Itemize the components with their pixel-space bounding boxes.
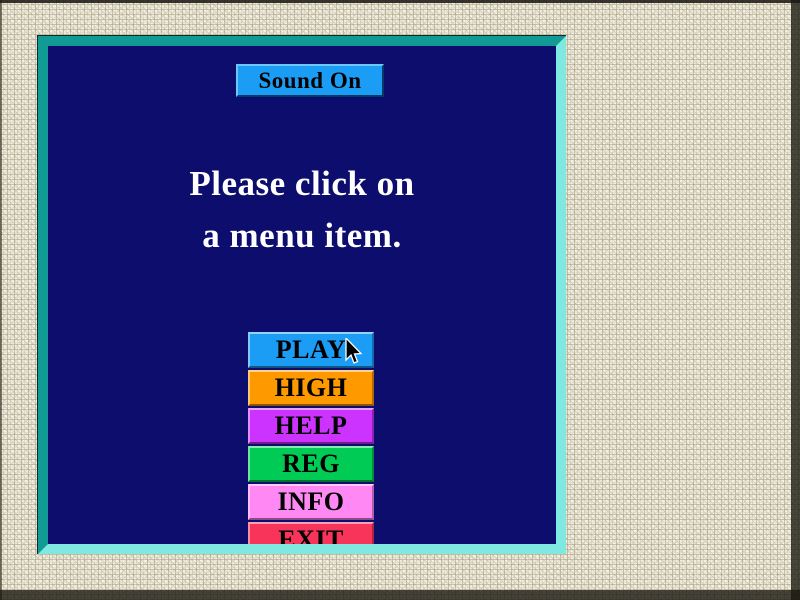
prompt-line-1: Please click on [48,158,556,210]
screen-edge-left [0,0,2,600]
screen-edge-right [791,0,800,600]
game-screen: Sound On Please click on a menu item. PL… [0,0,800,600]
menu-button-help[interactable]: HELP [248,408,374,444]
menu-button-exit[interactable]: EXIT [248,522,374,544]
screen-edge-bottom [0,590,800,600]
menu-button-play[interactable]: PLAY [248,332,374,368]
sound-toggle-button[interactable]: Sound On [236,64,384,97]
game-window-frame: Sound On Please click on a menu item. PL… [38,36,566,554]
menu-button-reg[interactable]: REG [248,446,374,482]
prompt-message: Please click on a menu item. [48,158,556,262]
main-menu: PLAYHIGHHELPREGINFOEXIT [248,332,374,544]
game-window-content: Sound On Please click on a menu item. PL… [48,46,556,544]
screen-edge-top [0,0,800,3]
menu-button-high[interactable]: HIGH [248,370,374,406]
menu-button-info[interactable]: INFO [248,484,374,520]
prompt-line-2: a menu item. [48,210,556,262]
